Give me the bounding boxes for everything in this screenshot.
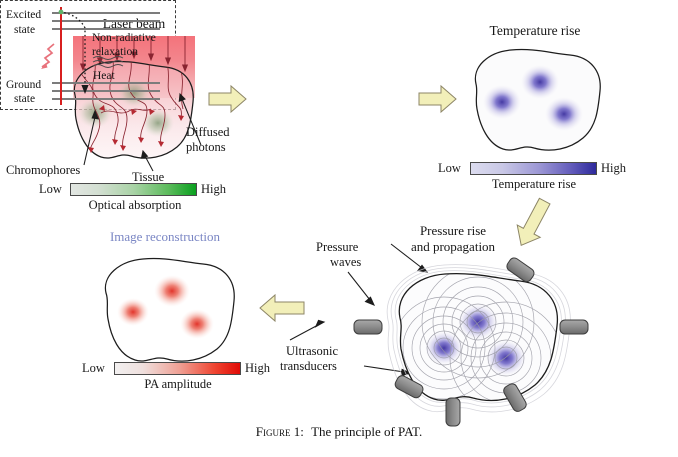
temperature-rise-caption: Temperature rise bbox=[463, 177, 605, 191]
tissue-diagram-temperature bbox=[460, 44, 610, 156]
excited-state-label-line2: state bbox=[14, 24, 35, 36]
ultrasonic-transducers-group bbox=[368, 242, 598, 422]
heat-waves-icon bbox=[92, 55, 126, 70]
image-reconstruction-title: Image reconstruction bbox=[80, 230, 250, 245]
panel-image-reconstruction: Image reconstruction Low High PA amplitu… bbox=[60, 228, 275, 398]
arrow-right-1 bbox=[208, 84, 248, 114]
temperature-colorbar-low-label: Low bbox=[438, 161, 461, 176]
pa-amplitude-colorbar bbox=[114, 362, 241, 375]
transducer-bottom-right bbox=[502, 382, 528, 413]
figure-caption: Figure 1: The principle of PAT. bbox=[0, 424, 678, 440]
diffused-photons-label-line2: photons bbox=[186, 140, 226, 154]
chromophores-label: Chromophores bbox=[6, 163, 80, 177]
optical-absorption-colorbar bbox=[70, 183, 197, 196]
temperature-rise-title: Temperature rise bbox=[460, 23, 610, 38]
transducer-left bbox=[354, 320, 382, 334]
panel-temperature-rise: Temperature rise Low High Temperature ri… bbox=[430, 18, 645, 208]
figure-caption-text: The principle of PAT. bbox=[311, 424, 422, 439]
panel-pressure-propagation: Pressure rise and propagation Pressure w… bbox=[278, 222, 678, 422]
pa-amplitude-caption: PA amplitude bbox=[108, 377, 248, 391]
optical-absorption-caption: Optical absorption bbox=[62, 198, 208, 212]
ground-state-label-line1: Ground bbox=[6, 79, 41, 91]
transducer-right bbox=[560, 320, 588, 334]
diffused-photons-label-line1: Diffused bbox=[186, 125, 230, 139]
tissue-diagram-reconstruction bbox=[90, 252, 245, 367]
optical-colorbar-low-label: Low bbox=[39, 182, 62, 197]
pa-colorbar-high-label: High bbox=[245, 361, 270, 376]
photon-squiggle-icon bbox=[26, 42, 58, 70]
transducer-top-right bbox=[505, 256, 536, 284]
transducer-bottom-left bbox=[393, 374, 424, 400]
temperature-colorbar-high-label: High bbox=[601, 161, 626, 176]
excited-state-label-line1: Excited bbox=[6, 9, 41, 21]
optical-colorbar-high-label: High bbox=[201, 182, 226, 197]
temperature-rise-colorbar bbox=[470, 162, 597, 175]
pa-colorbar-low-label: Low bbox=[82, 361, 105, 376]
transducer-bottom bbox=[446, 398, 460, 426]
tissue-label: Tissue bbox=[132, 170, 164, 184]
nonradiative-relaxation-path bbox=[58, 8, 104, 100]
figure-caption-prefix: Figure 1: bbox=[256, 424, 304, 439]
ground-state-label-line2: state bbox=[14, 93, 35, 105]
